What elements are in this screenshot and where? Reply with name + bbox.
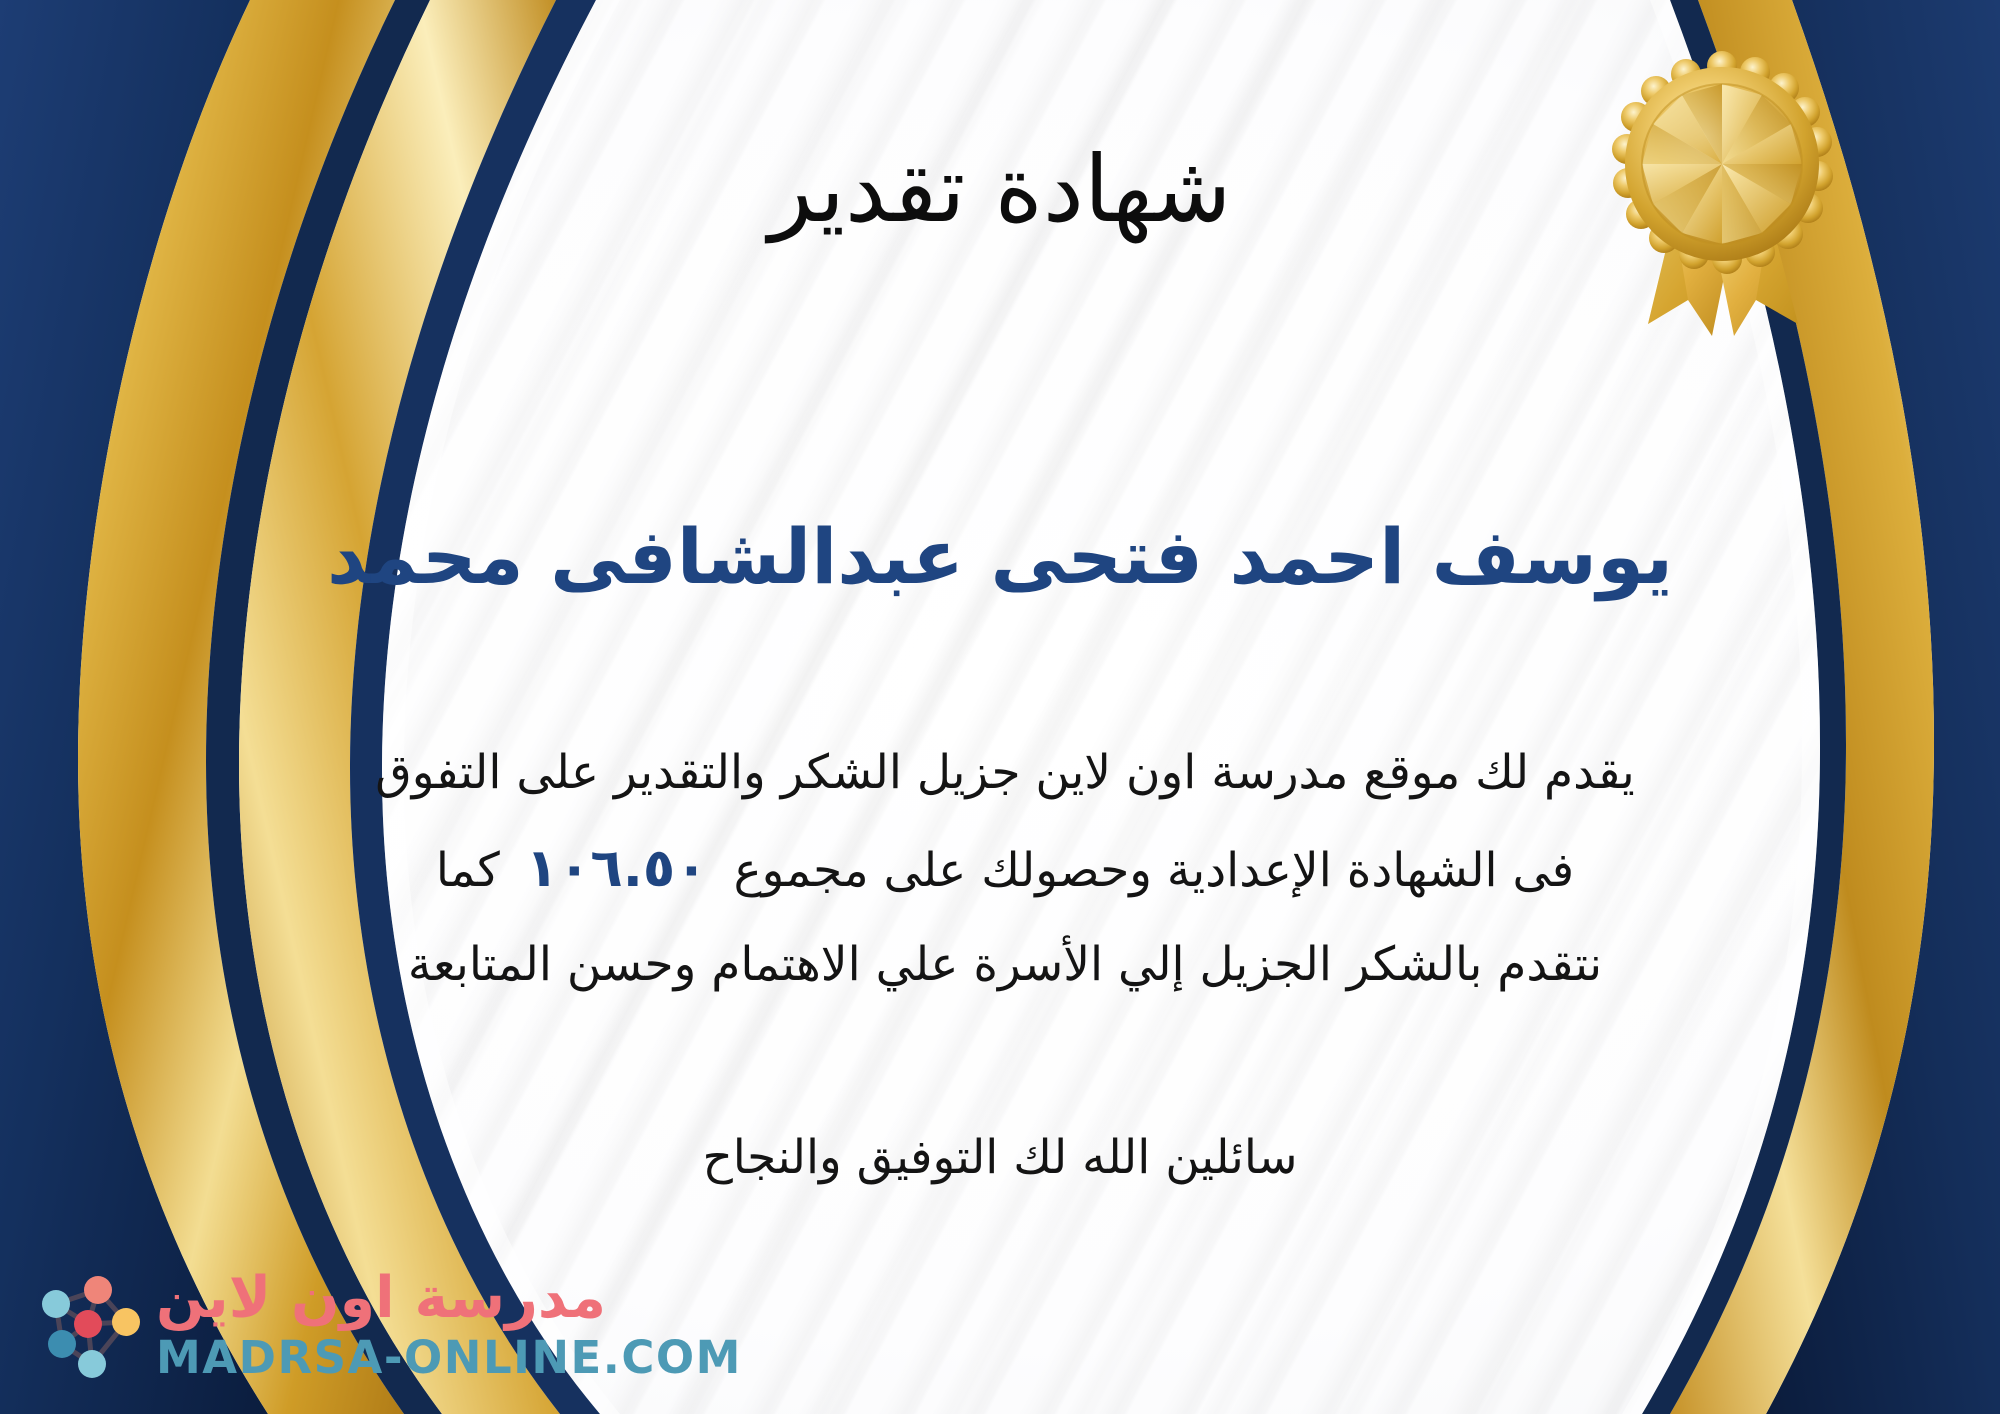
certificate-canvas: شهادة تقدير يوسف احمد فتحى عبدالشافى محم… [0,0,2000,1414]
body-line-2-suffix: كما [436,843,500,898]
closing-wish-line: سائلين الله لك التوفيق والنجاح [0,1120,2000,1195]
brand-logo[interactable]: مدرسة اون لاين MADRSA-ONLINE.COM [26,1264,742,1384]
body-line-2-prefix: فى الشهادة الإعدادية وحصولك على مجموع [734,843,1575,898]
network-nodes-icon [26,1264,146,1384]
body-line-2: فى الشهادة الإعدادية وحصولك على مجموع١٠٦… [110,818,1900,920]
recipient-name: يوسف احمد فتحى عبدالشافى محمد [0,512,2000,602]
certificate-body: يقدم لك موقع مدرسة اون لاين جزيل الشكر و… [110,728,1900,1010]
body-line-1: يقدم لك موقع مدرسة اون لاين جزيل الشكر و… [110,728,1900,818]
brand-text-block: مدرسة اون لاين MADRSA-ONLINE.COM [156,1265,742,1384]
gold-medal-seal-icon [1602,48,1842,348]
body-line-3: نتقدم بالشكر الجزيل إلي الأسرة علي الاهت… [110,920,1900,1010]
grade-total-value: ١٠٦.٥٠ [500,838,734,899]
brand-arabic-name: مدرسة اون لاين [156,1265,606,1332]
brand-website-url[interactable]: MADRSA-ONLINE.COM [156,1332,742,1384]
